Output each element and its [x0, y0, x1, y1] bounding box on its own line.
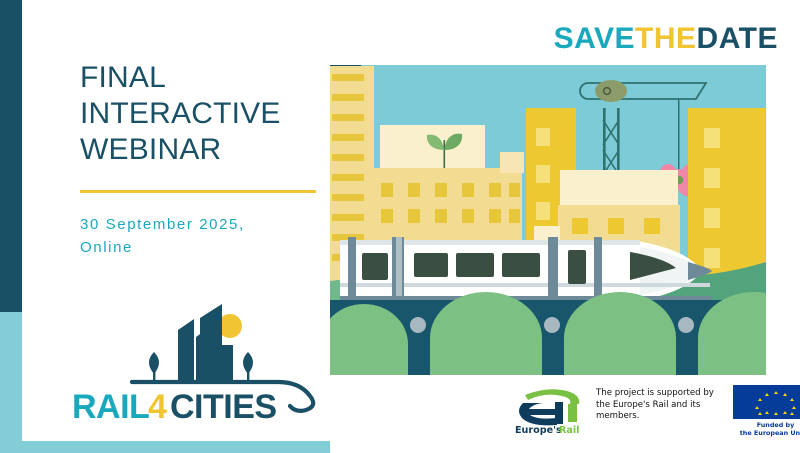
er-wordmark-europes: Europe's [515, 425, 562, 435]
small-cube-building [500, 152, 524, 173]
logo-text-rail: RAIL [72, 388, 149, 424]
eu-flag-icon [733, 385, 800, 419]
title-line-1: FINAL [80, 60, 312, 96]
europes-rail-logo: Europe's Rail [513, 383, 591, 435]
event-date: 30 September 2025, [80, 213, 312, 236]
crane-cable [678, 99, 680, 171]
eu-funding-block: Funded by the European Union [728, 385, 800, 437]
logo-text-four: 4 [148, 388, 167, 424]
support-text: The project is supported by the Europe's… [596, 388, 716, 423]
rail4cities-logo: RAIL 4 CITIES [70, 296, 320, 424]
eu-caption: Funded by the European Union [728, 421, 800, 437]
headline-save: SAVE [554, 22, 635, 55]
er-green-swoosh [525, 389, 579, 404]
event-details: 30 September 2025, Online [80, 213, 312, 259]
title-line-3: WEBINAR [80, 132, 312, 168]
footer: Europe's Rail The project is supported b… [330, 375, 800, 453]
er-wordmark-rail: Rail [559, 425, 579, 435]
train-illustration [340, 237, 712, 303]
eu-caption-line-1: Funded by [728, 421, 800, 429]
rail4cities-logo-svg: RAIL 4 CITIES [70, 296, 320, 424]
event-format: Online [80, 236, 312, 259]
info-card: FINAL INTERACTIVE WEBINAR 30 September 2… [22, 0, 330, 441]
save-the-date-poster: SAVETHEDATE FINAL INTERACTIVE WEBINAR 30… [0, 0, 800, 453]
far-right-tower [688, 108, 766, 283]
title-divider [80, 190, 316, 193]
logo-text-cities: CITIES [170, 388, 277, 424]
europes-rail-logo-svg: Europe's Rail [513, 383, 591, 435]
title-line-2: INTERACTIVE [80, 96, 312, 132]
eu-caption-line-2: the European Union [728, 429, 800, 437]
page-title: FINAL INTERACTIVE WEBINAR [80, 60, 312, 168]
info-card-content: FINAL INTERACTIVE WEBINAR 30 September 2… [80, 60, 312, 259]
bottom-strip-teal [0, 441, 330, 453]
er-navy-e [519, 403, 557, 425]
save-the-date-headline: SAVETHEDATE [554, 22, 778, 56]
headline-date: DATE [697, 22, 778, 55]
headline-the: THE [635, 22, 697, 55]
